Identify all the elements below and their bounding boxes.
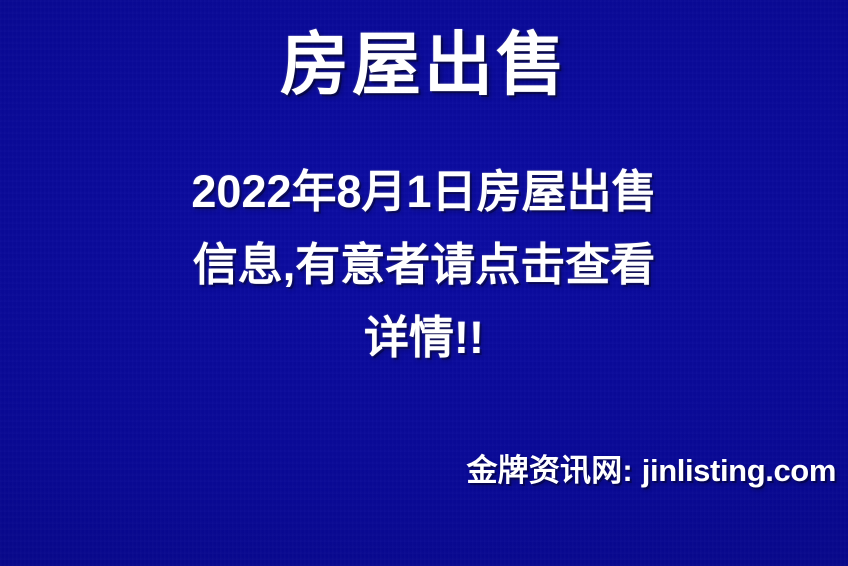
watermark-site-url: jinlisting.com bbox=[642, 453, 836, 488]
body-line-2: 信息,有意者请点击查看 bbox=[0, 229, 848, 302]
page-title: 房屋出售 bbox=[280, 28, 568, 101]
watermark: 金牌资讯网: jinlisting.com bbox=[466, 452, 836, 489]
watermark-label: 金牌资讯网: bbox=[466, 453, 633, 488]
watermark-container: 金牌资讯网: jinlisting.com bbox=[466, 452, 836, 489]
poster-title-container: 房屋出售 bbox=[0, 28, 848, 101]
body-line-1: 2022年8月1日房屋出售 bbox=[0, 156, 848, 229]
poster-body-container: 2022年8月1日房屋出售 信息,有意者请点击查看 详情!! bbox=[0, 156, 848, 375]
body-line-3: 详情!! bbox=[0, 302, 848, 375]
poster-canvas: 房屋出售 2022年8月1日房屋出售 信息,有意者请点击查看 详情!! 金牌资讯… bbox=[0, 0, 848, 566]
